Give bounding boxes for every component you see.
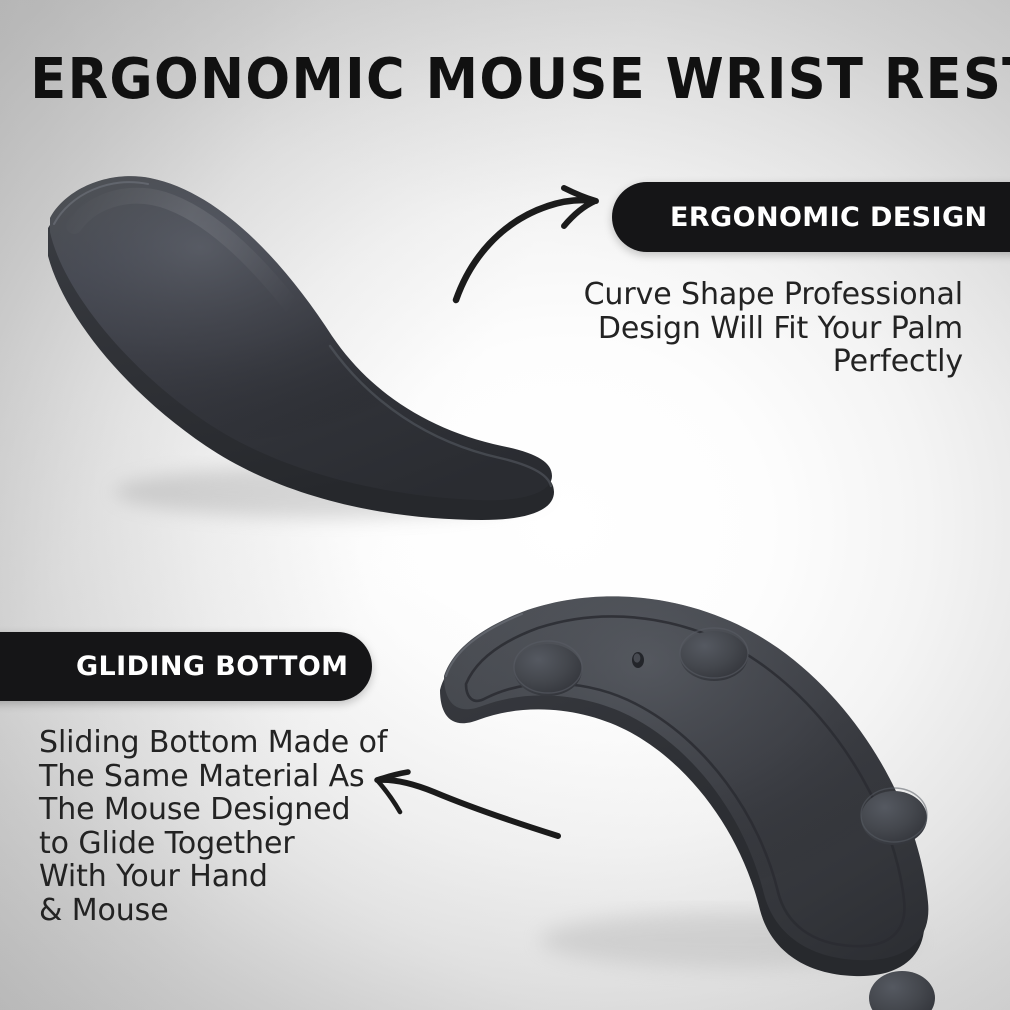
feature-banner-label: GLIDING BOTTOM (76, 651, 348, 682)
page-title: ERGONOMIC MOUSE WRIST REST (30, 50, 979, 110)
description-line: With Your Hand (39, 860, 459, 894)
feature-banner-gliding-bottom[interactable]: GLIDING BOTTOM (0, 632, 372, 701)
pinhole-vent (632, 652, 644, 668)
description-line: Sliding Bottom Made of (39, 726, 459, 760)
description-line: Design Will Fit Your Palm (543, 312, 963, 346)
infographic-canvas: ERGONOMIC MOUSE WRIST REST (0, 0, 1010, 1010)
feature-banner-label: ERGONOMIC DESIGN (670, 202, 988, 233)
description-line: Perfectly (543, 345, 963, 379)
description-line: The Mouse Designed (39, 793, 459, 827)
description-line: Curve Shape Professional (543, 278, 963, 312)
description-line: The Same Material As (39, 760, 459, 794)
feature-description-gliding-bottom: Sliding Bottom Made of The Same Material… (39, 726, 459, 927)
feature-banner-ergonomic-design[interactable]: ERGONOMIC DESIGN (612, 182, 1010, 252)
feature-description-ergonomic-design: Curve Shape Professional Design Will Fit… (543, 278, 963, 379)
description-line: & Mouse (39, 894, 459, 928)
description-line: to Glide Together (39, 827, 459, 861)
